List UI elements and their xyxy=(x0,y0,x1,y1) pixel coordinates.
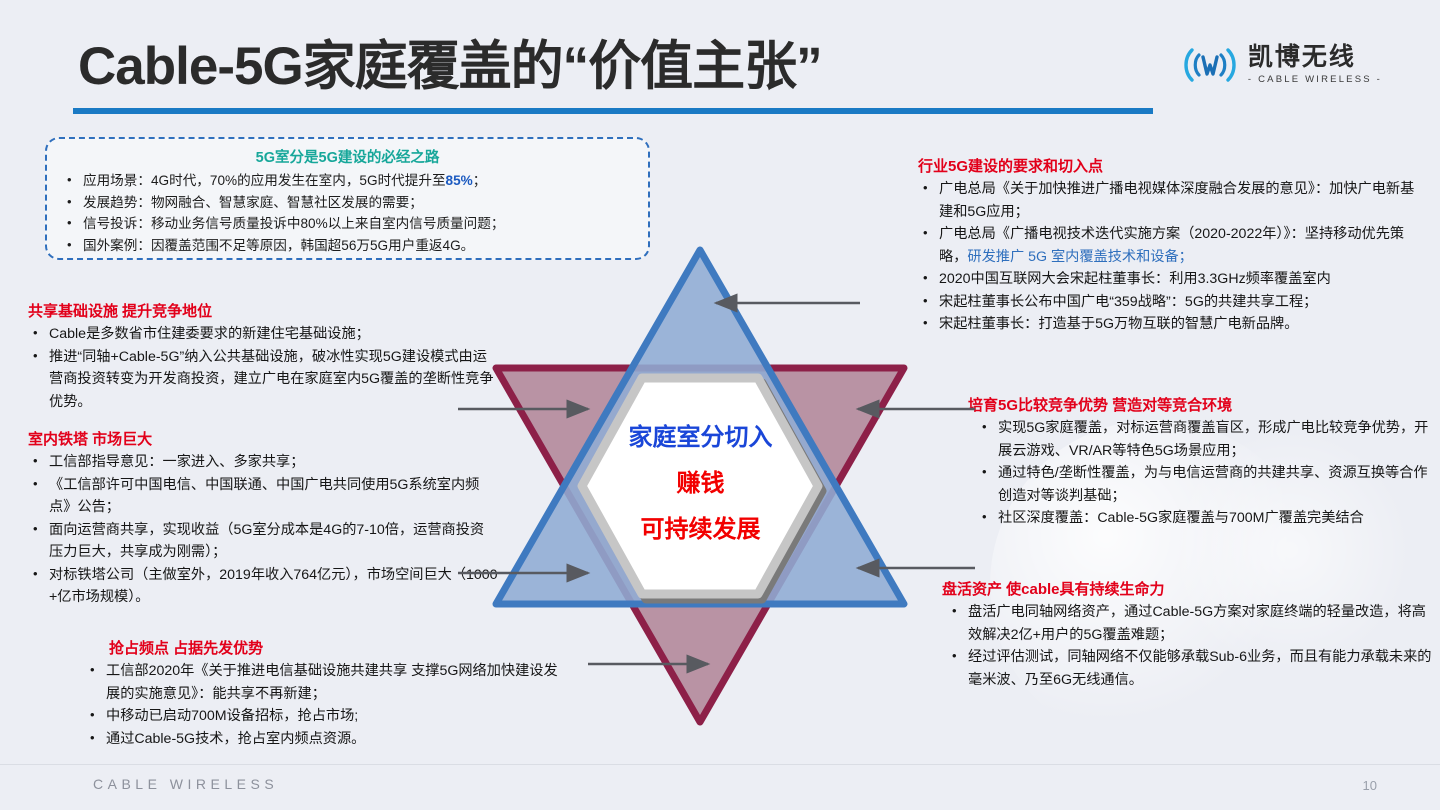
callout-title: 5G室分是5G建设的必经之路 xyxy=(61,146,634,167)
page-title: Cable-5G家庭覆盖的“价值主张” xyxy=(78,24,822,100)
wifi-wave-logo-icon xyxy=(1182,44,1238,86)
logo-text: 凯博无线 - CABLE WIRELESS - xyxy=(1248,45,1382,85)
list-item: 实现5G家庭覆盖，对标运营商覆盖盲区，形成广电比较竞争优势，开展云游戏、VR/A… xyxy=(972,417,1434,462)
block-heading: 培育5G比较竞争优势 营造对等竞合环境 xyxy=(968,394,1434,415)
callout-item-text: 发展趋势：物网融合、智慧家庭、智慧社区发展的需要； xyxy=(83,195,423,210)
list-item-text: 宋起柱董事长公布中国广电“359战略”：5G的共建共享工程； xyxy=(939,294,1317,310)
list-item: 推进“同轴+Cable-5G”纳入公共基础设施，破冰性实现5G建设模式由运营商投… xyxy=(28,346,498,414)
center-label-line-3: 可持续发展 xyxy=(598,517,803,542)
block-shared-infrastructure: 共享基础设施 提升竞争地位 Cable是多数省市住建委要求的新建住宅基础设施； … xyxy=(28,300,498,413)
block-list: 工信部指导意见：一家进入、多家共享； 《工信部许可中国电信、中国联通、中国广电共… xyxy=(28,451,498,609)
logo-name-en: - CABLE WIRELESS - xyxy=(1248,75,1382,85)
list-item: 对标铁塔公司（主做室外，2019年收入764亿元），市场空间巨大（1000 +亿… xyxy=(28,564,498,609)
slide-canvas: Cable-5G家庭覆盖的“价值主张” 凯博无线 - CABLE WIRELES… xyxy=(0,0,1440,810)
list-item-highlight: 研发推广 5G 室内覆盖技术和设备 xyxy=(967,249,1178,265)
block-heading: 室内铁塔 市场巨大 xyxy=(28,428,498,449)
page-number: 10 xyxy=(1363,778,1377,793)
list-item: 面向运营商共享，实现收益（5G室分成本是4G的7-10倍，运营商投资压力巨大，共… xyxy=(28,519,498,564)
block-industry-requirements: 行业5G建设的要求和切入点 广电总局《关于加快推进广播电视媒体深度融合发展的意见… xyxy=(918,155,1428,336)
block-revitalize-assets: 盘活资产 使cable具有持续生命力 盘活广电同轴网络资产，通过Cable-5G… xyxy=(942,578,1434,691)
list-item: 《工信部许可中国电信、中国联通、中国广电共同使用5G系统室内频点》公告； xyxy=(28,474,498,519)
block-heading: 共享基础设施 提升竞争地位 xyxy=(28,300,498,321)
callout-item-text: 信号投诉：移动业务信号质量投诉中80%以上来自室内信号质量问题； xyxy=(83,216,504,231)
list-item: 工信部指导意见：一家进入、多家共享； xyxy=(28,451,498,474)
center-label-line-2: 赚钱 xyxy=(598,471,803,496)
block-list: 广电总局《关于加快推进广播电视媒体深度融合发展的意见》：加快广电新基建和5G应用… xyxy=(918,178,1428,336)
list-item-text: 2020中国互联网大会宋起柱董事长：利用3.3GHz频率覆盖室内 xyxy=(939,271,1331,287)
list-item-tail: ； xyxy=(1179,249,1193,265)
list-item: 广电总局《广播电视技术迭代实施方案（2020-2022年）》：坚持移动优先策略，… xyxy=(918,223,1428,268)
logo-name-cn: 凯博无线 xyxy=(1248,45,1382,70)
block-list: Cable是多数省市住建委要求的新建住宅基础设施； 推进“同轴+Cable-5G… xyxy=(28,323,498,413)
list-item: 经过评估测试，同轴网络不仅能够承载Sub-6业务，而且有能力承载未来的毫米波、乃… xyxy=(942,646,1434,691)
callout-item: 发展趋势：物网融合、智慧家庭、智慧社区发展的需要； xyxy=(61,192,634,214)
block-list: 实现5G家庭覆盖，对标运营商覆盖盲区，形成广电比较竞争优势，开展云游戏、VR/A… xyxy=(972,417,1434,530)
callout-item-highlight: 85% xyxy=(446,173,473,188)
list-item: 盘活广电同轴网络资产，通过Cable-5G方案对家庭终端的轻量改造，将高效解决2… xyxy=(942,601,1434,646)
list-item: 2020中国互联网大会宋起柱董事长：利用3.3GHz频率覆盖室内 xyxy=(918,268,1428,291)
list-item: 社区深度覆盖：Cable-5G家庭覆盖与700M广覆盖完美结合 xyxy=(972,507,1434,530)
callout-item: 应用场景：4G时代，70%的应用发生在室内，5G时代提升至85%； xyxy=(61,170,634,192)
list-item-text: 广电总局《关于加快推进广播电视媒体深度融合发展的意见》：加快广电新基建和5G应用… xyxy=(939,181,1414,220)
block-competitive-advantage: 培育5G比较竞争优势 营造对等竞合环境 实现5G家庭覆盖，对标运营商覆盖盲区，形… xyxy=(972,394,1434,530)
hexagram-center-label: 家庭室分切入 赚钱 可持续发展 xyxy=(598,425,803,543)
callout-item-text: 应用场景：4G时代，70%的应用发生在室内，5G时代提升至 xyxy=(83,173,446,188)
center-label-line-1: 家庭室分切入 xyxy=(598,425,803,450)
brand-logo: 凯博无线 - CABLE WIRELESS - xyxy=(1182,44,1382,86)
callout-item-tail: ； xyxy=(473,173,487,188)
footer-divider xyxy=(0,764,1440,765)
list-item-text: 宋起柱董事长：打造基于5G万物互联的智慧广电新品牌。 xyxy=(939,316,1298,332)
list-item: 宋起柱董事长公布中国广电“359战略”：5G的共建共享工程； xyxy=(918,291,1428,314)
block-list: 盘活广电同轴网络资产，通过Cable-5G方案对家庭终端的轻量改造，将高效解决2… xyxy=(942,601,1434,691)
list-item: 通过特色/垄断性覆盖，为与电信运营商的共建共享、资源互换等合作创造对等谈判基础； xyxy=(972,462,1434,507)
block-heading: 行业5G建设的要求和切入点 xyxy=(918,155,1428,176)
list-item: 广电总局《关于加快推进广播电视媒体深度融合发展的意见》：加快广电新基建和5G应用… xyxy=(918,178,1428,223)
title-underline-rule xyxy=(73,108,1153,114)
block-heading: 盘活资产 使cable具有持续生命力 xyxy=(942,578,1434,599)
list-item: 宋起柱董事长：打造基于5G万物互联的智慧广电新品牌。 xyxy=(918,313,1428,336)
callout-item-text: 国外案例：因覆盖范围不足等原因，韩国超56万5G用户重返4G。 xyxy=(83,238,474,253)
block-indoor-tower: 室内铁塔 市场巨大 工信部指导意见：一家进入、多家共享； 《工信部许可中国电信、… xyxy=(28,428,498,609)
list-item: Cable是多数省市住建委要求的新建住宅基础设施； xyxy=(28,323,498,346)
footer-brand: CABLE WIRELESS xyxy=(93,776,278,792)
